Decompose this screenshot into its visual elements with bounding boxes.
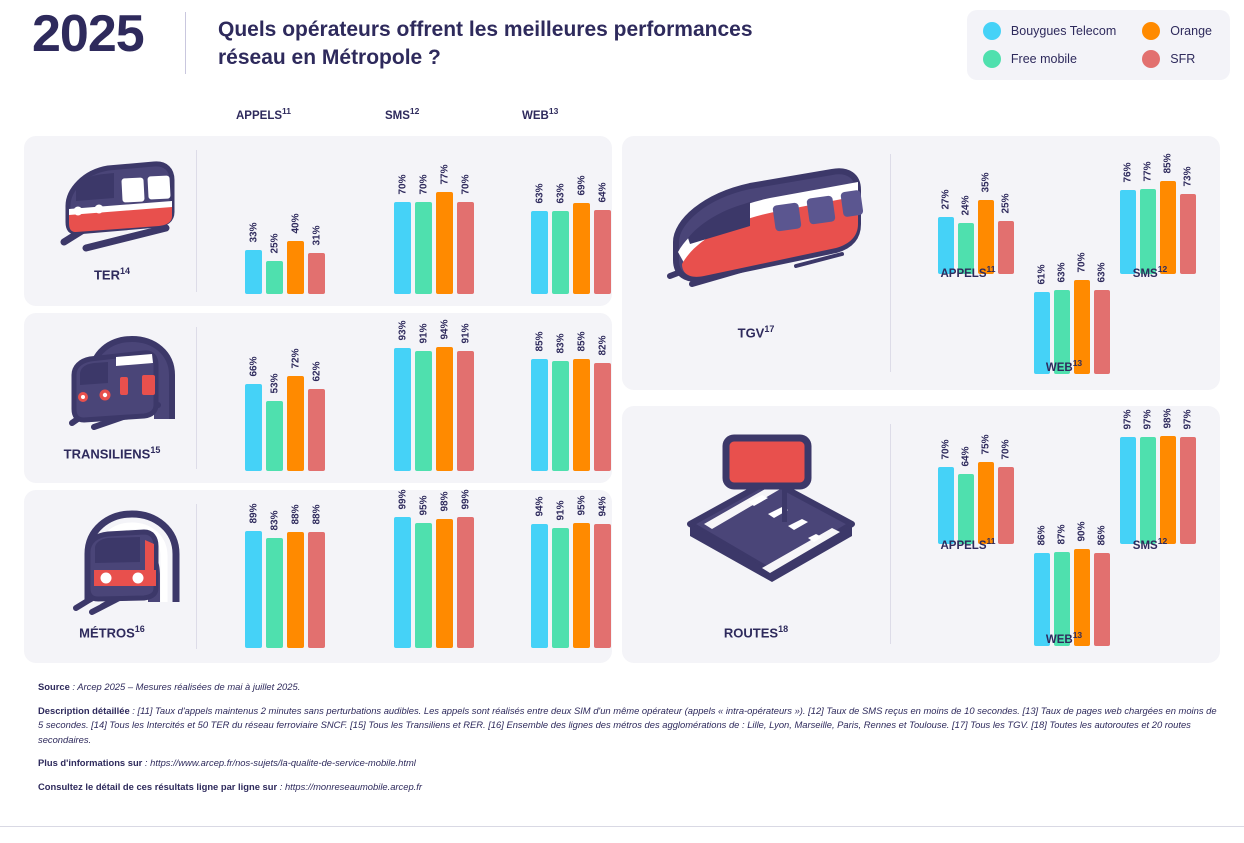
footer-source-label: Source [38,681,70,692]
bar-value: 25% [1001,194,1012,214]
road-sign-icon [670,432,870,582]
bar-value: 63% [1057,262,1068,282]
bars-tgv-appels: 27% 24% 35% 25% [922,164,1008,274]
bars-metros-web: 94% 91% 95% 94% [507,516,597,648]
bar-value: 77% [439,165,450,185]
bar-ter-web-free: 63% [552,162,569,294]
bar-value: 33% [248,223,259,243]
bar-value: 70% [1077,253,1088,273]
bar-tgv-sms-sfr: 73% [1180,164,1196,274]
bar-transiliens-appels-free: 53% [266,339,283,471]
bar-metros-sms-sfr: 99% [457,516,474,648]
legend-dot-sfr [1142,50,1160,68]
vehicle-label-metros: MÉTROS16 [0,624,242,640]
sub-label-tgv-sms: SMS12 [1090,264,1210,280]
bar-value: 93% [397,321,408,341]
vehicle-label-tgv: TGV17 [622,324,890,340]
legend-dot-orange [1142,22,1160,40]
bar-ter-appels-sfr: 31% [308,162,325,294]
bar-routes-appels-free: 64% [958,434,974,544]
bar-value: 63% [555,183,566,203]
bar-ter-appels-orange: 40% [287,162,304,294]
bar-value: 73% [1183,166,1194,186]
sub-label-routes-appels: APPELS11 [908,536,1028,552]
bar-metros-sms-free: 95% [415,516,432,648]
bar-ter-sms-free: 70% [415,162,432,294]
panel-divider-tgv [890,154,891,372]
page-title: Quels opérateurs offrent les meilleures … [218,16,778,71]
bar-metros-web-sfr: 94% [594,516,611,648]
bar-ter-web-orange: 69% [573,162,590,294]
header-divider [185,12,186,74]
bars-ter-sms: 70% 70% 77% 70% [370,162,460,294]
footer-description: Description détaillée : [11] Taux d'appe… [38,704,1218,748]
vehicle-label-ter: TER14 [0,266,242,282]
column-headers: APPELS11 SMS12 WEB13 [0,106,612,132]
legend-dot-bouygues [983,22,1001,40]
bar-value: 98% [1163,409,1174,429]
bar-value: 77% [1143,162,1154,182]
legend-dot-free [983,50,1001,68]
bars-metros-sms: 99% 95% 98% 99% [370,516,460,648]
bar-routes-sms-free: 97% [1140,434,1156,544]
bottom-rule [0,826,1244,827]
column-header-appels: APPELS11 [236,106,291,122]
footer-more-info-label: Plus d'informations sur [38,757,142,768]
bar-value: 62% [311,362,322,382]
bars-routes-sms: 97% 97% 98% 97% [1104,434,1190,544]
bar-value: 83% [555,334,566,354]
legend-label-sfr: SFR [1170,52,1195,66]
bar-tgv-appels-orange: 35% [978,164,994,274]
bar-metros-appels-free: 83% [266,516,283,648]
page-header: 2025 Quels opérateurs offrent les meille… [0,0,1244,96]
bar-value: 31% [311,226,322,246]
bar-tgv-appels-free: 24% [958,164,974,274]
bar-tgv-sms-bouygues: 76% [1120,164,1136,274]
bars-metros-appels: 89% 83% 88% 88% [221,516,311,648]
bar-transiliens-sms-bouygues: 93% [394,339,411,471]
footer-detail-url[interactable]: : https://monreseaumobile.arcep.fr [277,781,422,792]
bar-value: 98% [439,491,450,511]
vehicle-label-transiliens: TRANSILIENS15 [0,445,242,461]
sub-label-tgv-appels: APPELS11 [908,264,1028,280]
panel-metros: MÉTROS16 89% 83% 88% 88% 99% 95% [24,490,612,663]
footer-description-text: : [11] Taux d'appels maintenus 2 minutes… [38,705,1217,745]
bar-metros-appels-orange: 88% [287,516,304,648]
regional-train-icon [46,150,196,262]
footer-more-info: Plus d'informations sur : https://www.ar… [38,756,1218,771]
suburban-train-tunnel-icon [50,327,200,439]
column-header-sms: SMS12 [385,106,419,122]
bar-tgv-sms-free: 77% [1140,164,1156,274]
bar-value: 97% [1183,410,1194,430]
bar-routes-appels-sfr: 70% [998,434,1014,544]
bar-ter-sms-bouygues: 70% [394,162,411,294]
bar-value: 97% [1143,410,1154,430]
bar-metros-web-orange: 95% [573,516,590,648]
bar-ter-appels-free: 25% [266,162,283,294]
bar-transiliens-web-orange: 85% [573,339,590,471]
bar-value: 69% [576,175,587,195]
bar-value: 99% [460,490,471,510]
bars-transiliens-web: 85% 83% 85% 82% [507,339,597,471]
bar-value: 64% [597,182,608,202]
bar-value: 63% [534,183,545,203]
bar-value: 70% [1001,439,1012,459]
bars-transiliens-sms: 93% 91% 94% 91% [370,339,460,471]
bar-value: 94% [534,496,545,516]
bars-routes-appels: 70% 64% 75% 70% [922,434,1008,544]
bar-value: 85% [1163,153,1174,173]
legend-label-free: Free mobile [1011,52,1077,66]
bar-ter-sms-sfr: 70% [457,162,474,294]
sub-label-tgv-web: WEB13 [1004,358,1124,374]
bar-ter-sms-orange: 77% [436,162,453,294]
bar-value: 70% [397,174,408,194]
bar-value: 94% [439,319,450,339]
bar-transiliens-sms-sfr: 91% [457,339,474,471]
footer-description-label: Description détaillée [38,705,130,716]
panel-ter: TER14 33% 25% 40% 31% 70% 70% [24,136,612,306]
legend-item-bouygues: Bouygues Telecom [983,22,1116,40]
bar-value: 82% [597,335,608,355]
bars-tgv-sms: 76% 77% 85% 73% [1104,164,1190,274]
panel-routes: ROUTES18 70% 64% 75% 70% APPELS11 86% [622,406,1220,663]
bar-value: 85% [576,331,587,351]
bar-value: 83% [269,511,280,531]
bar-routes-appels-orange: 75% [978,434,994,544]
bar-routes-sms-orange: 98% [1160,434,1176,544]
footer-source: Source : Arcep 2025 – Mesures réalisées … [38,680,1218,695]
bar-value: 89% [248,503,259,523]
footer-notes: Source : Arcep 2025 – Mesures réalisées … [38,680,1218,803]
bar-value: 40% [290,214,301,234]
bar-metros-appels-bouygues: 89% [245,516,262,648]
bar-value: 99% [397,490,408,510]
year-title: 2025 [32,8,144,60]
bar-value: 91% [555,500,566,520]
bar-tgv-appels-bouygues: 27% [938,164,954,274]
bar-value: 27% [941,189,952,209]
column-header-web: WEB13 [522,106,558,122]
panel-tgv: TGV17 27% 24% 35% 25% APPELS11 61% 63 [622,136,1220,390]
bar-value: 88% [311,504,322,524]
bar-value: 95% [576,495,587,515]
high-speed-train-icon [646,166,874,296]
legend-item-free: Free mobile [983,50,1116,68]
bar-metros-web-free: 91% [552,516,569,648]
bar-transiliens-sms-orange: 94% [436,339,453,471]
bar-metros-appels-sfr: 88% [308,516,325,648]
bar-transiliens-sms-free: 91% [415,339,432,471]
bar-ter-appels-bouygues: 33% [245,162,262,294]
bar-value: 91% [460,323,471,343]
bar-value: 94% [597,496,608,516]
panel-divider-routes [890,424,891,644]
sub-label-routes-sms: SMS12 [1090,536,1210,552]
bar-tgv-sms-orange: 85% [1160,164,1176,274]
bar-transiliens-web-sfr: 82% [594,339,611,471]
bar-value: 85% [534,331,545,351]
bar-value: 76% [1123,163,1134,183]
bar-value: 25% [269,233,280,253]
bars-ter-web: 63% 63% 69% 64% [507,162,597,294]
bar-value: 64% [961,446,972,466]
bar-ter-web-bouygues: 63% [531,162,548,294]
legend-item-sfr: SFR [1142,50,1212,68]
bar-ter-web-sfr: 64% [594,162,611,294]
bar-value: 70% [941,439,952,459]
bar-metros-sms-bouygues: 99% [394,516,411,648]
legend-label-orange: Orange [1170,24,1212,38]
bar-transiliens-web-free: 83% [552,339,569,471]
bar-value: 90% [1077,521,1088,541]
bar-value: 91% [418,323,429,343]
bar-value: 72% [290,348,301,368]
bar-value: 86% [1037,526,1048,546]
bar-routes-appels-bouygues: 70% [938,434,954,544]
panel-transiliens: TRANSILIENS15 66% 53% 72% 62% 93% 91% [24,313,612,483]
bar-value: 66% [248,356,259,376]
vehicle-label-routes: ROUTES18 [622,624,890,640]
bar-transiliens-web-bouygues: 85% [531,339,548,471]
bar-value: 61% [1037,264,1048,284]
bar-value: 53% [269,374,280,394]
bar-transiliens-appels-bouygues: 66% [245,339,262,471]
bar-value: 75% [981,434,992,454]
bar-routes-sms-sfr: 97% [1180,434,1196,544]
metro-tunnel-icon [50,502,200,617]
bar-value: 88% [290,504,301,524]
bar-transiliens-appels-orange: 72% [287,339,304,471]
bar-value: 70% [460,174,471,194]
bar-value: 97% [1123,410,1134,430]
footer-detail: Consultez le détail de ces résultats lig… [38,780,1218,795]
bar-value: 70% [418,174,429,194]
bar-metros-web-bouygues: 94% [531,516,548,648]
bars-ter-appels: 33% 25% 40% 31% [221,162,311,294]
bars-transiliens-appels: 66% 53% 72% 62% [221,339,311,471]
legend-item-orange: Orange [1142,22,1212,40]
bar-value: 95% [418,495,429,515]
footer-more-info-url[interactable]: : https://www.arcep.fr/nos-sujets/la-qua… [142,757,416,768]
bar-value: 87% [1057,525,1068,545]
bar-value: 35% [981,173,992,193]
sub-label-routes-web: WEB13 [1004,630,1124,646]
footer-source-text: : Arcep 2025 – Mesures réalisées de mai … [70,681,301,692]
bar-routes-sms-bouygues: 97% [1120,434,1136,544]
bar-transiliens-appels-sfr: 62% [308,339,325,471]
bar-metros-sms-orange: 98% [436,516,453,648]
bar-tgv-appels-sfr: 25% [998,164,1014,274]
legend: Bouygues Telecom Orange Free mobile SFR [967,10,1230,80]
footer-detail-label: Consultez le détail de ces résultats lig… [38,781,277,792]
bar-value: 24% [961,196,972,216]
legend-label-bouygues: Bouygues Telecom [1011,24,1116,38]
